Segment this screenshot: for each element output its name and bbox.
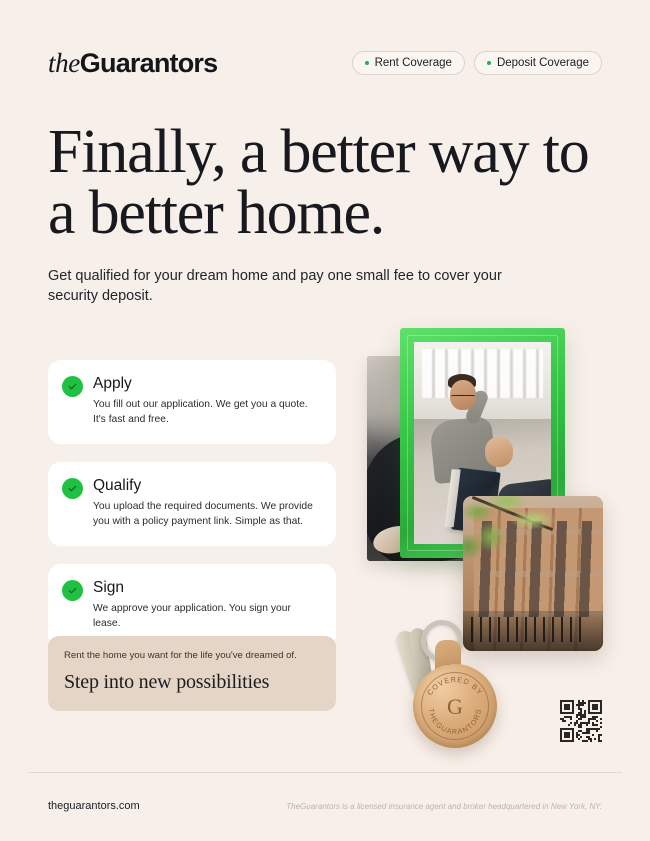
poster-page: theGuarantors Rent Coverage Deposit Cove… [0, 0, 650, 841]
badge-rent-coverage[interactable]: Rent Coverage [352, 51, 465, 75]
step-body: Sign We approve your application. You si… [93, 579, 320, 632]
page-header: theGuarantors Rent Coverage Deposit Cove… [0, 40, 650, 86]
artwork-collage: COVERED BY THEGUARANTORS G [355, 318, 620, 758]
footer-disclaimer: TheGuarantors is a licensed insurance ag… [286, 802, 602, 811]
steps-list: Apply You fill out our application. We g… [48, 360, 336, 648]
green-dot-icon [365, 61, 369, 65]
step-title: Qualify [93, 477, 320, 494]
check-circle-icon [62, 478, 83, 499]
hero-subheading: Get qualified for your dream home and pa… [48, 266, 548, 307]
check-circle-icon [62, 580, 83, 601]
tree-foliage [463, 496, 567, 583]
green-dot-icon [487, 61, 491, 65]
step-description: We approve your application. You sign yo… [93, 602, 320, 632]
cta-panel[interactable]: Rent the home you want for the life you'… [48, 636, 336, 711]
cta-kicker: Rent the home you want for the life you'… [64, 650, 320, 662]
footer-website[interactable]: theguarantors.com [48, 800, 140, 812]
badge-deposit-coverage-label: Deposit Coverage [497, 57, 589, 69]
glasses-icon [451, 395, 475, 401]
step-title: Apply [93, 375, 320, 392]
badge-rent-coverage-label: Rent Coverage [375, 57, 452, 69]
keychain-graphic: COVERED BY THEGUARANTORS G [397, 618, 517, 748]
step-description: You upload the required documents. We pr… [93, 500, 320, 530]
badge-deposit-coverage[interactable]: Deposit Coverage [474, 51, 602, 75]
brand-logo-the: the [48, 48, 80, 78]
keychain-fob: COVERED BY THEGUARANTORS G [413, 664, 497, 748]
step-card-qualify: Qualify You upload the required document… [48, 462, 336, 546]
step-body: Apply You fill out our application. We g… [93, 375, 320, 428]
qr-code-image [560, 700, 602, 742]
hero-section: Finally, a better way to a better home. … [48, 122, 608, 307]
page-footer: theguarantors.com TheGuarantors is a lic… [48, 800, 602, 812]
brand-logo[interactable]: theGuarantors [48, 50, 217, 77]
check-circle-icon [62, 376, 83, 397]
page-title: Finally, a better way to a better home. [48, 122, 608, 244]
qr-code[interactable] [560, 700, 602, 742]
step-description: You fill out our application. We get you… [93, 398, 320, 428]
woman-head [485, 437, 513, 467]
coverage-badges: Rent Coverage Deposit Coverage [352, 51, 602, 75]
step-card-apply: Apply You fill out our application. We g… [48, 360, 336, 444]
step-body: Qualify You upload the required document… [93, 477, 320, 530]
cta-title: Step into new possibilities [64, 671, 320, 693]
footer-divider [28, 772, 622, 773]
brand-logo-name: Guarantors [80, 48, 218, 78]
step-title: Sign [93, 579, 320, 596]
fob-monogram: G [447, 696, 463, 718]
